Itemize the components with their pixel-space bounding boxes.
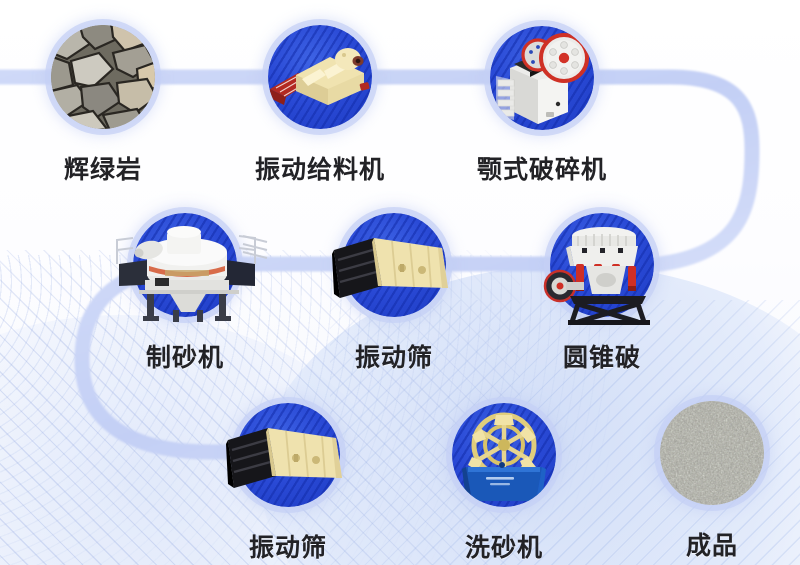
vibrating-screen-machine-icon <box>224 418 354 498</box>
cone-crusher-label: 圆锥破 <box>527 338 677 374</box>
finished-product-label: 成品 <box>662 526 762 562</box>
vibrating-screen-mid-label: 振动筛 <box>294 338 494 374</box>
jaw-crusher-label: 颚式破碎机 <box>442 150 642 186</box>
diabase-disc[interactable] <box>51 25 155 129</box>
rock-pile-photo-icon <box>51 25 155 129</box>
vibrating-feeder-label: 振动给料机 <box>220 150 420 186</box>
wheel-sand-washer-machine-icon <box>452 403 556 507</box>
sand-washer-disc[interactable] <box>452 403 556 507</box>
jaw-crusher-disc[interactable] <box>490 26 594 130</box>
vibrating-feeder-machine-icon <box>268 25 372 129</box>
sand-washer-label: 洗砂机 <box>429 528 579 564</box>
diabase-label: 辉绿岩 <box>3 150 203 186</box>
vibrating-feeder-disc[interactable] <box>268 25 372 129</box>
process-flow-diagram: 辉绿岩 <box>0 0 800 565</box>
cone-crusher-machine-icon <box>542 218 662 328</box>
finished-product-disc[interactable] <box>660 401 764 505</box>
jaw-crusher-machine-icon <box>490 26 594 130</box>
vibrating-screen-machine-icon <box>330 228 460 308</box>
finished-gravel-photo-icon <box>660 401 764 505</box>
vsi-sand-maker-machine-icon <box>103 218 271 328</box>
vibrating-screen-bottom-label: 振动筛 <box>188 528 388 564</box>
sand-making-machine-label: 制砂机 <box>85 338 285 374</box>
